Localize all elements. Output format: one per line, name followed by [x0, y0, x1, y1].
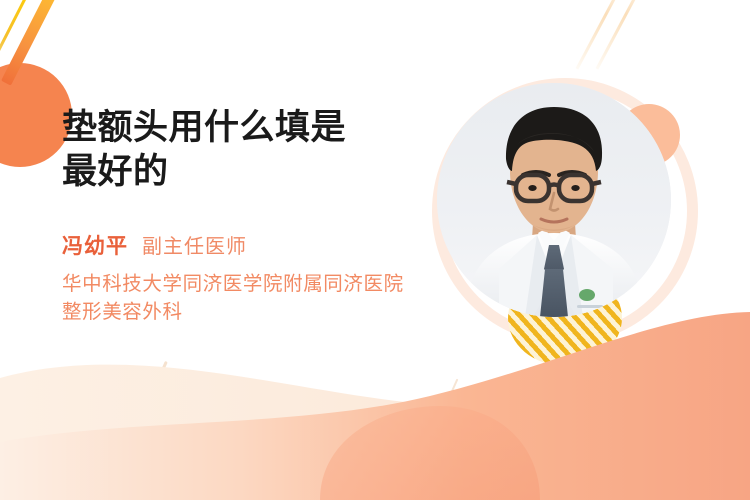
stripe-thick	[1, 0, 64, 86]
stripe-faint-2	[596, 0, 651, 70]
wave-light-layer	[0, 354, 750, 500]
doctor-portrait-avatar	[437, 83, 671, 317]
stripe-faint-middle	[151, 361, 168, 393]
stripe-faint-1	[576, 0, 631, 70]
doctor-info-card: 垫额头用什么填是 最好的 冯幼平 副主任医师 华中科技大学同济医学院附属同济医院…	[0, 0, 750, 500]
doctor-affiliation: 华中科技大学同济医学院附属同济医院 整形美容外科	[62, 270, 462, 326]
diagonal-stripes-top-left-decoration	[28, 0, 118, 74]
wave-accent-blob	[320, 406, 540, 500]
stripe-faint-middle-secondary	[448, 379, 459, 400]
doctor-professional-title: 副主任医师	[142, 230, 247, 259]
page-title: 垫额头用什么填是 最好的	[62, 106, 462, 194]
doctor-name: 冯幼平	[62, 230, 128, 260]
bottom-wave-decoration	[0, 310, 750, 500]
text-content: 垫额头用什么填是 最好的 冯幼平 副主任医师 华中科技大学同济医学院附属同济医院…	[62, 106, 462, 326]
stripe-thin	[0, 0, 36, 84]
wave-salmon-layer	[0, 312, 750, 500]
doctor-identity-row: 冯幼平 副主任医师	[62, 230, 462, 260]
diagonal-stripes-top-right-decoration	[612, 0, 692, 70]
